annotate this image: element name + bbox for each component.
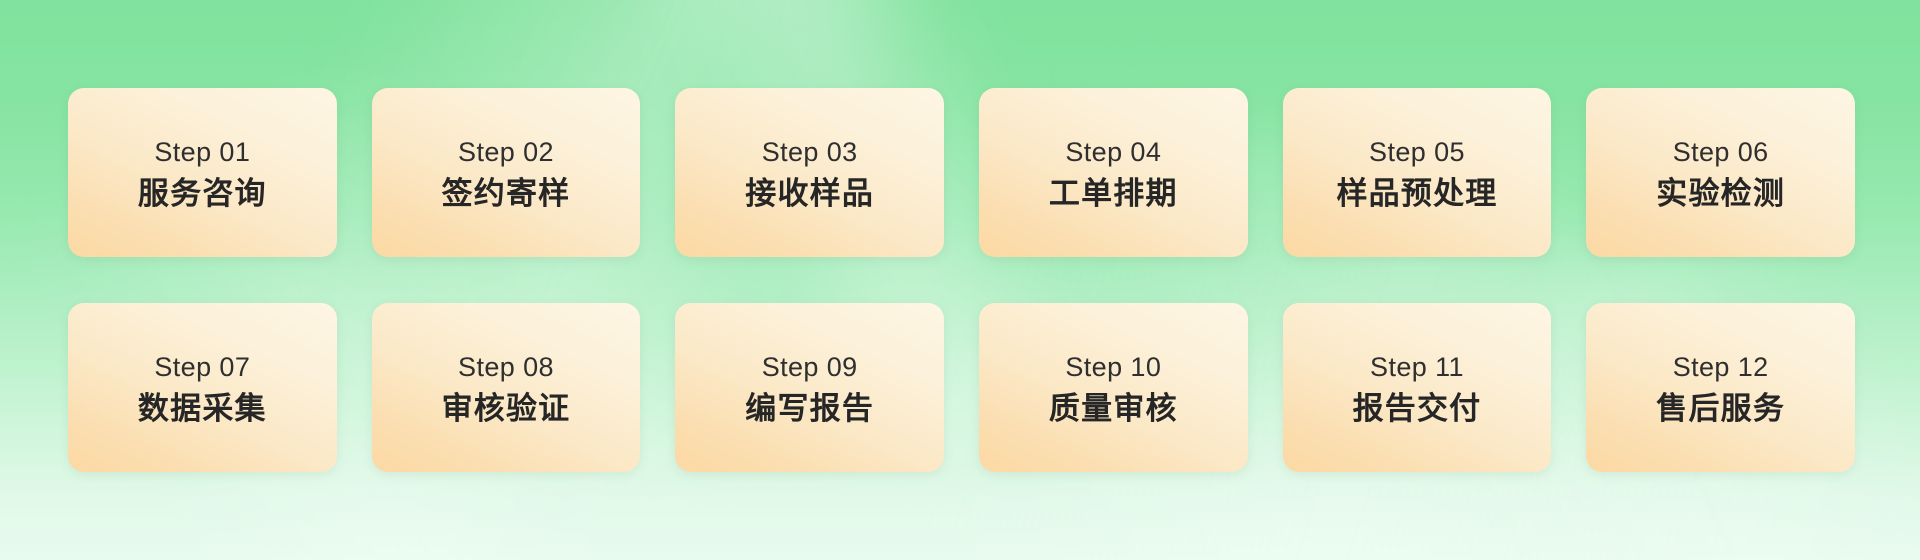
step-number: Step 08 bbox=[458, 350, 554, 386]
step-number: Step 04 bbox=[1065, 135, 1161, 171]
step-card-11[interactable]: Step 11 报告交付 bbox=[1283, 303, 1552, 472]
step-card-02[interactable]: Step 02 签约寄样 bbox=[372, 88, 641, 257]
step-number: Step 02 bbox=[458, 135, 554, 171]
step-label: 服务咨询 bbox=[138, 174, 267, 214]
process-flow-banner: Step 01 服务咨询 Step 02 签约寄样 Step 03 接收样品 S… bbox=[0, 0, 1920, 560]
step-card-08[interactable]: Step 08 审核验证 bbox=[372, 303, 641, 472]
step-card-06[interactable]: Step 06 实验检测 bbox=[1586, 88, 1855, 257]
step-number: Step 01 bbox=[154, 135, 250, 171]
step-label: 审核验证 bbox=[442, 389, 571, 429]
step-card-09[interactable]: Step 09 编写报告 bbox=[675, 303, 944, 472]
step-label: 工单排期 bbox=[1049, 174, 1178, 214]
step-label: 售后服务 bbox=[1656, 389, 1785, 429]
step-card-10[interactable]: Step 10 质量审核 bbox=[979, 303, 1248, 472]
step-number: Step 12 bbox=[1673, 350, 1769, 386]
step-card-07[interactable]: Step 07 数据采集 bbox=[68, 303, 337, 472]
step-card-05[interactable]: Step 05 样品预处理 bbox=[1283, 88, 1552, 257]
step-card-03[interactable]: Step 03 接收样品 bbox=[675, 88, 944, 257]
step-label: 报告交付 bbox=[1353, 389, 1482, 429]
step-number: Step 06 bbox=[1673, 135, 1769, 171]
step-number: Step 03 bbox=[762, 135, 858, 171]
step-number: Step 11 bbox=[1370, 350, 1464, 386]
step-label: 样品预处理 bbox=[1336, 174, 1497, 214]
step-card-04[interactable]: Step 04 工单排期 bbox=[979, 88, 1248, 257]
step-label: 接收样品 bbox=[745, 174, 874, 214]
step-label: 编写报告 bbox=[745, 389, 874, 429]
step-label: 实验检测 bbox=[1656, 174, 1785, 214]
step-card-01[interactable]: Step 01 服务咨询 bbox=[68, 88, 337, 257]
step-label: 质量审核 bbox=[1049, 389, 1178, 429]
step-label: 签约寄样 bbox=[442, 174, 571, 214]
process-steps-grid: Step 01 服务咨询 Step 02 签约寄样 Step 03 接收样品 S… bbox=[68, 88, 1855, 472]
step-number: Step 10 bbox=[1065, 350, 1161, 386]
step-number: Step 05 bbox=[1369, 135, 1465, 171]
step-number: Step 07 bbox=[154, 350, 250, 386]
step-label: 数据采集 bbox=[138, 389, 267, 429]
step-card-12[interactable]: Step 12 售后服务 bbox=[1586, 303, 1855, 472]
step-number: Step 09 bbox=[762, 350, 858, 386]
